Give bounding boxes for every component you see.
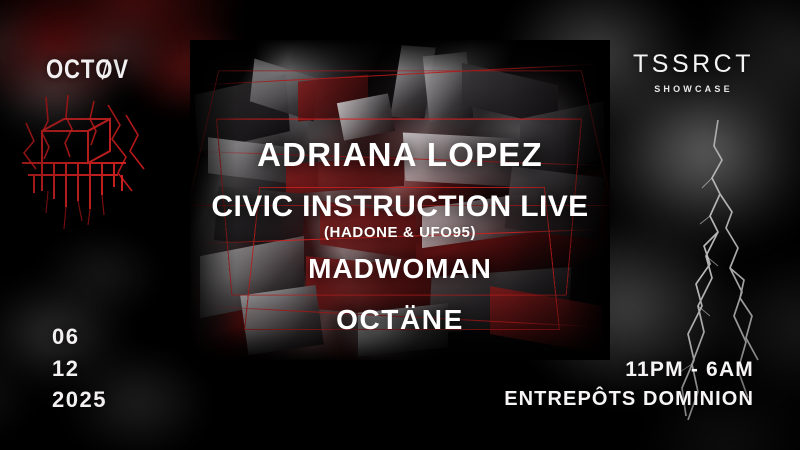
logo-text-a: OCT [46,54,95,84]
logo-text-b: V [113,54,129,84]
brand-block: TSSRCT SHOWCASE [633,52,754,94]
octov-logo[interactable]: OCTOV [46,56,129,83]
lineup-act-3: MADWOMAN [0,254,800,284]
brand-name: TSSRCT [633,52,754,77]
lineup-block: ADRIANA LOPEZ CIVIC INSTRUCTION LIVE (HA… [0,138,800,335]
event-time: 11PM - 6AM [504,357,754,383]
logo-slashed-o: O [95,56,113,83]
brand-subtitle: SHOWCASE [633,84,754,94]
venue-block: 11PM - 6AM ENTREPÔTS DOMINION [504,357,754,412]
lineup-act-2-subtitle: (HADONE & UFO95) [0,224,800,241]
event-date: 06 12 2025 [52,321,107,415]
date-month: 12 [52,353,107,384]
date-day: 06 [52,321,107,352]
lineup-act-2: CIVIC INSTRUCTION LIVE [0,191,800,223]
lineup-act-4: OCTÄNE [0,305,800,335]
event-poster: OCTOV TSSRCT SHOWCASE ADRIANA LOPEZ CIVI… [0,0,800,450]
date-year: 2025 [52,384,107,415]
lineup-act-1: ADRIANA LOPEZ [0,138,800,173]
venue-name: ENTREPÔTS DOMINION [504,386,754,412]
